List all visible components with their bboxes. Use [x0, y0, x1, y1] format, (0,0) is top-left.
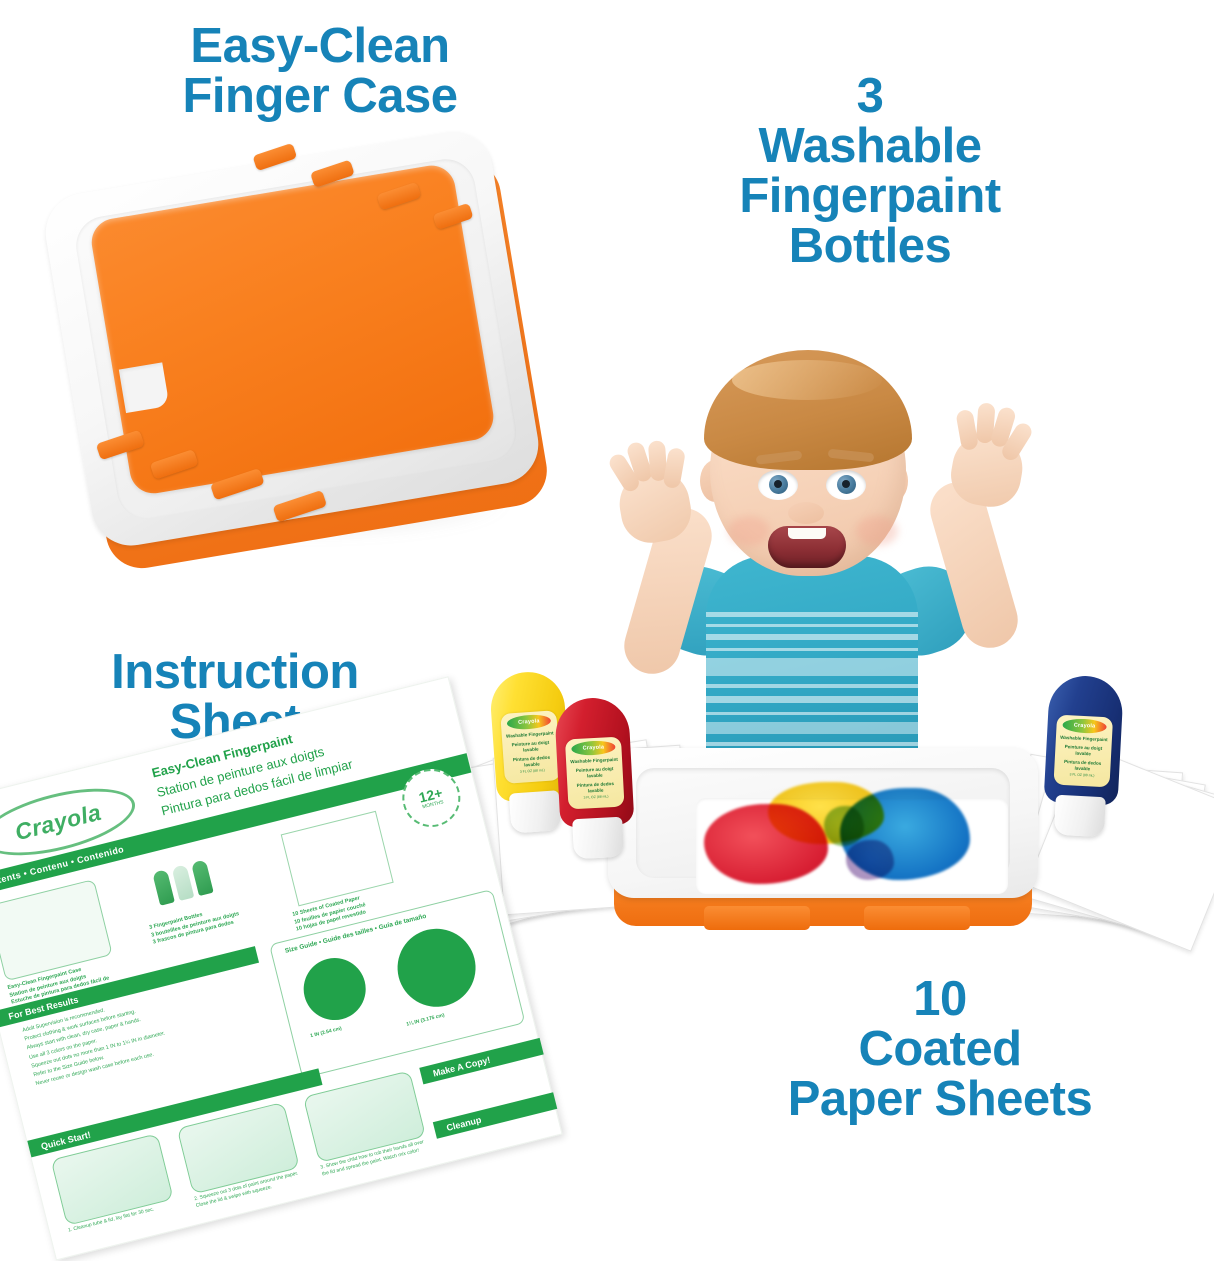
callout-washable-fingerpaint-bottles: 3 Washable Fingerpaint Bottles — [660, 72, 1080, 272]
label-text-en: Washable Fingerpaint — [1058, 735, 1110, 744]
section-cleanup: Cleanup — [433, 1092, 557, 1138]
label-text-en: Washable Fingerpaint — [504, 730, 556, 739]
label-text-fr: Peinture au doigt lavable — [504, 739, 557, 754]
callout-line: Fingerpaint — [660, 172, 1080, 222]
case-rotation-group — [32, 114, 562, 586]
label-text-fr: Peinture au doigt lavable — [568, 766, 621, 780]
baby-mouth — [768, 526, 846, 568]
label-text-es: Pintura de dedos lavable — [569, 780, 622, 794]
section-heading: Make A Copy! — [420, 1054, 491, 1081]
open-fingerpaint-tray — [608, 748, 1038, 944]
baby-nose — [788, 502, 824, 524]
callout-line: 3 — [660, 72, 1080, 122]
baby-teeth — [788, 528, 826, 539]
mini-bottle — [191, 859, 214, 896]
product-infographic: Easy-Clean Finger Case 3 Washable Finger… — [0, 0, 1214, 1214]
label-text-es: Pintura de dedos lavable — [1056, 758, 1109, 772]
brand-name: Crayola — [12, 798, 104, 845]
callout-line: Bottles — [660, 222, 1080, 272]
crayola-logo: Crayola — [506, 714, 551, 731]
callout-line: Washable — [660, 122, 1080, 172]
tray-clip — [864, 906, 970, 930]
section-heading: Cleanup — [434, 1114, 483, 1135]
bottle-label: Crayola Washable Fingerpaint Peinture au… — [1053, 715, 1113, 788]
bottle-cap — [572, 817, 624, 860]
baby-hair — [704, 350, 912, 470]
brand-name: Crayola — [518, 718, 540, 725]
callout-line: Easy-Clean — [60, 22, 580, 72]
bottle-cap — [509, 790, 562, 833]
bottle-label: Crayola Washable Fingerpaint Peinture au… — [500, 710, 561, 784]
blue-fingerpaint-bottle: Crayola Washable Fingerpaint Peinture au… — [1042, 674, 1124, 838]
baby-photo — [560, 330, 1120, 790]
brand-name: Crayola — [582, 744, 604, 751]
baby-cheek-left — [728, 516, 770, 546]
label-net-contents: 3 FL OZ (88 mL) — [583, 795, 608, 801]
tray-clip — [704, 906, 810, 930]
mini-bottle — [152, 869, 175, 906]
section-heading: Quick Start! — [28, 1129, 92, 1154]
baby-cheek-right — [856, 516, 898, 546]
label-text-es: Pintura de dedos lavable — [505, 754, 558, 769]
callout-line: Coated — [720, 1025, 1160, 1075]
baby-eye-right — [826, 470, 866, 500]
label-text-fr: Peinture au doigt lavable — [1057, 744, 1110, 758]
easy-clean-finger-case-image — [62, 150, 572, 600]
crayola-logo: Crayola — [571, 740, 616, 756]
bottle-label: Crayola Washable Fingerpaint Peinture au… — [565, 737, 625, 810]
crayola-logo: Crayola — [1062, 718, 1107, 734]
brand-name: Crayola — [1074, 722, 1096, 729]
paint-smear-purple — [846, 840, 894, 880]
red-fingerpaint-bottle: Crayola Washable Fingerpaint Peinture au… — [554, 696, 636, 860]
baby-eye-left — [758, 470, 798, 500]
callout-line: Paper Sheets — [720, 1075, 1160, 1125]
callout-line: Instruction — [35, 648, 435, 698]
callout-line: Finger Case — [60, 72, 580, 122]
callout-easy-clean-finger-case: Easy-Clean Finger Case — [60, 22, 580, 122]
bottle-cap — [1054, 795, 1106, 838]
label-text-en: Washable Fingerpaint — [568, 757, 620, 766]
contents-item-bottles-illustration — [152, 859, 214, 905]
label-net-contents: 3 FL OZ (88 mL) — [520, 768, 545, 774]
callout-coated-paper-sheets: 10 Coated Paper Sheets — [720, 975, 1160, 1125]
contents-item-bottles-caption: 3 Fingerpaint Bottles 3 bouteilles de pe… — [149, 899, 261, 948]
callout-line: 10 — [720, 975, 1160, 1025]
mini-bottle — [172, 864, 195, 901]
section-make-a-copy: Make A Copy! — [419, 1038, 543, 1084]
label-net-contents: 3 FL OZ (88 mL) — [1069, 773, 1094, 779]
tray-white-lid — [608, 748, 1038, 898]
